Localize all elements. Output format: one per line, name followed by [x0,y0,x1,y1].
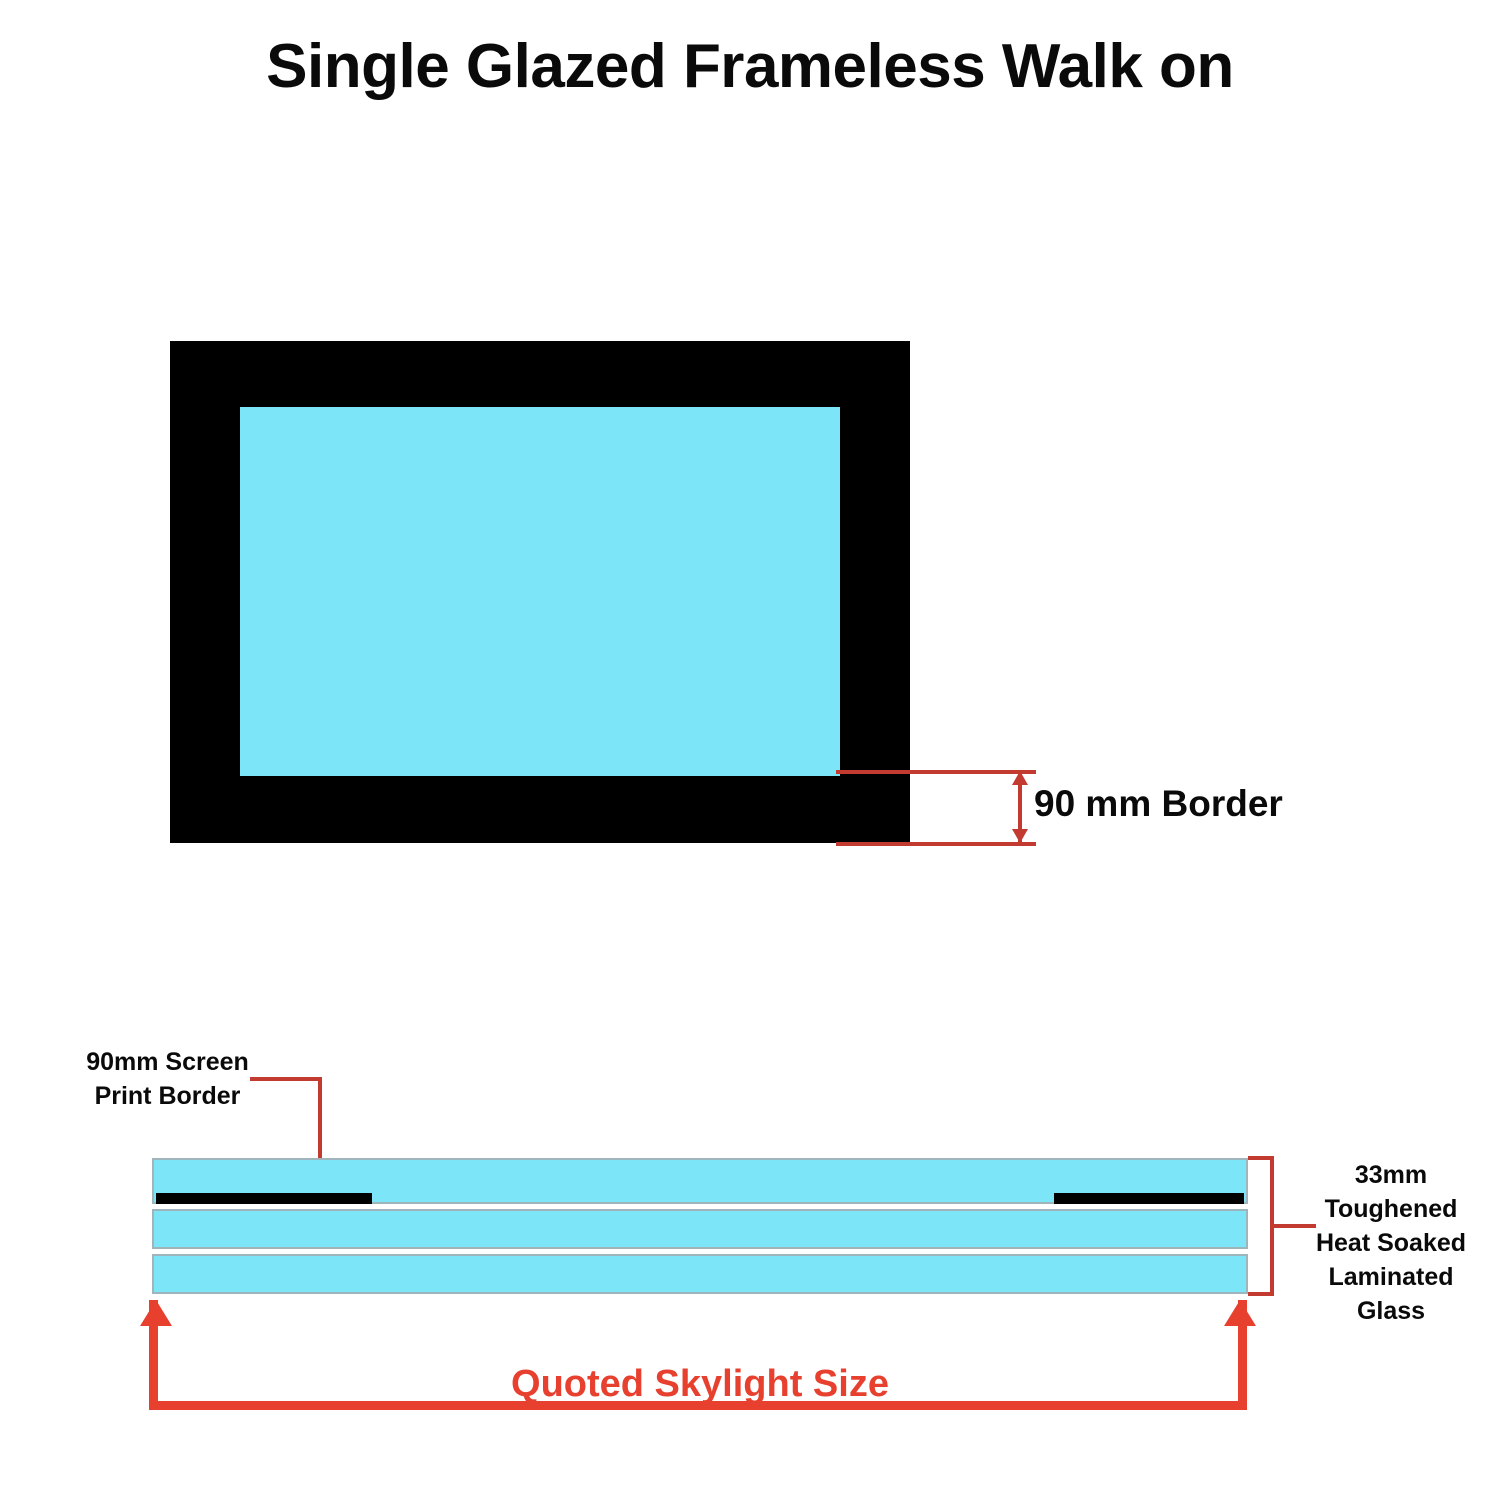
glass-thickness-bracket [1248,1156,1274,1296]
bracket-arm-bottom [1248,1292,1274,1296]
arrowhead-down-icon [1012,829,1028,843]
plan-view-diagram [170,341,910,843]
border-dimension-label: 90 mm Border [1034,783,1283,825]
border-dimension-arrow [836,770,1036,850]
middle-toughened-pane [152,1209,1248,1249]
cross-section-diagram [152,1158,1248,1294]
glass-thickness-label: 33mm Toughened Heat Soaked Laminated Gla… [1296,1158,1486,1328]
quoted-arrowhead-right-icon [1224,1300,1256,1326]
quoted-size-label: Quoted Skylight Size [0,1363,1400,1406]
bracket-arm-top [1248,1156,1274,1160]
page-title: Single Glazed Frameless Walk on [0,34,1500,99]
thickness-label-line1: 33mm [1296,1158,1486,1192]
bottom-toughened-pane [152,1254,1248,1294]
leader-line-horizontal [250,1077,322,1081]
arrowhead-up-icon [1012,771,1028,785]
quoted-arrowhead-left-icon [140,1300,172,1326]
screen-print-callout-line2: Print Border [60,1080,275,1114]
screen-print-band-right [1054,1193,1244,1204]
clear-glazing-area [240,407,840,776]
top-toughened-pane [152,1158,1248,1204]
screen-print-callout-label: 90mm Screen Print Border [60,1046,275,1113]
thickness-label-line3: Heat Soaked [1296,1226,1486,1260]
screen-print-band-left [156,1193,372,1204]
screen-print-callout-line1: 90mm Screen [60,1046,275,1080]
thickness-label-line2: Toughened [1296,1192,1486,1226]
thickness-label-line4: Laminated Glass [1296,1260,1486,1328]
extension-line-top [836,770,1036,774]
extension-line-bottom [836,842,1036,846]
